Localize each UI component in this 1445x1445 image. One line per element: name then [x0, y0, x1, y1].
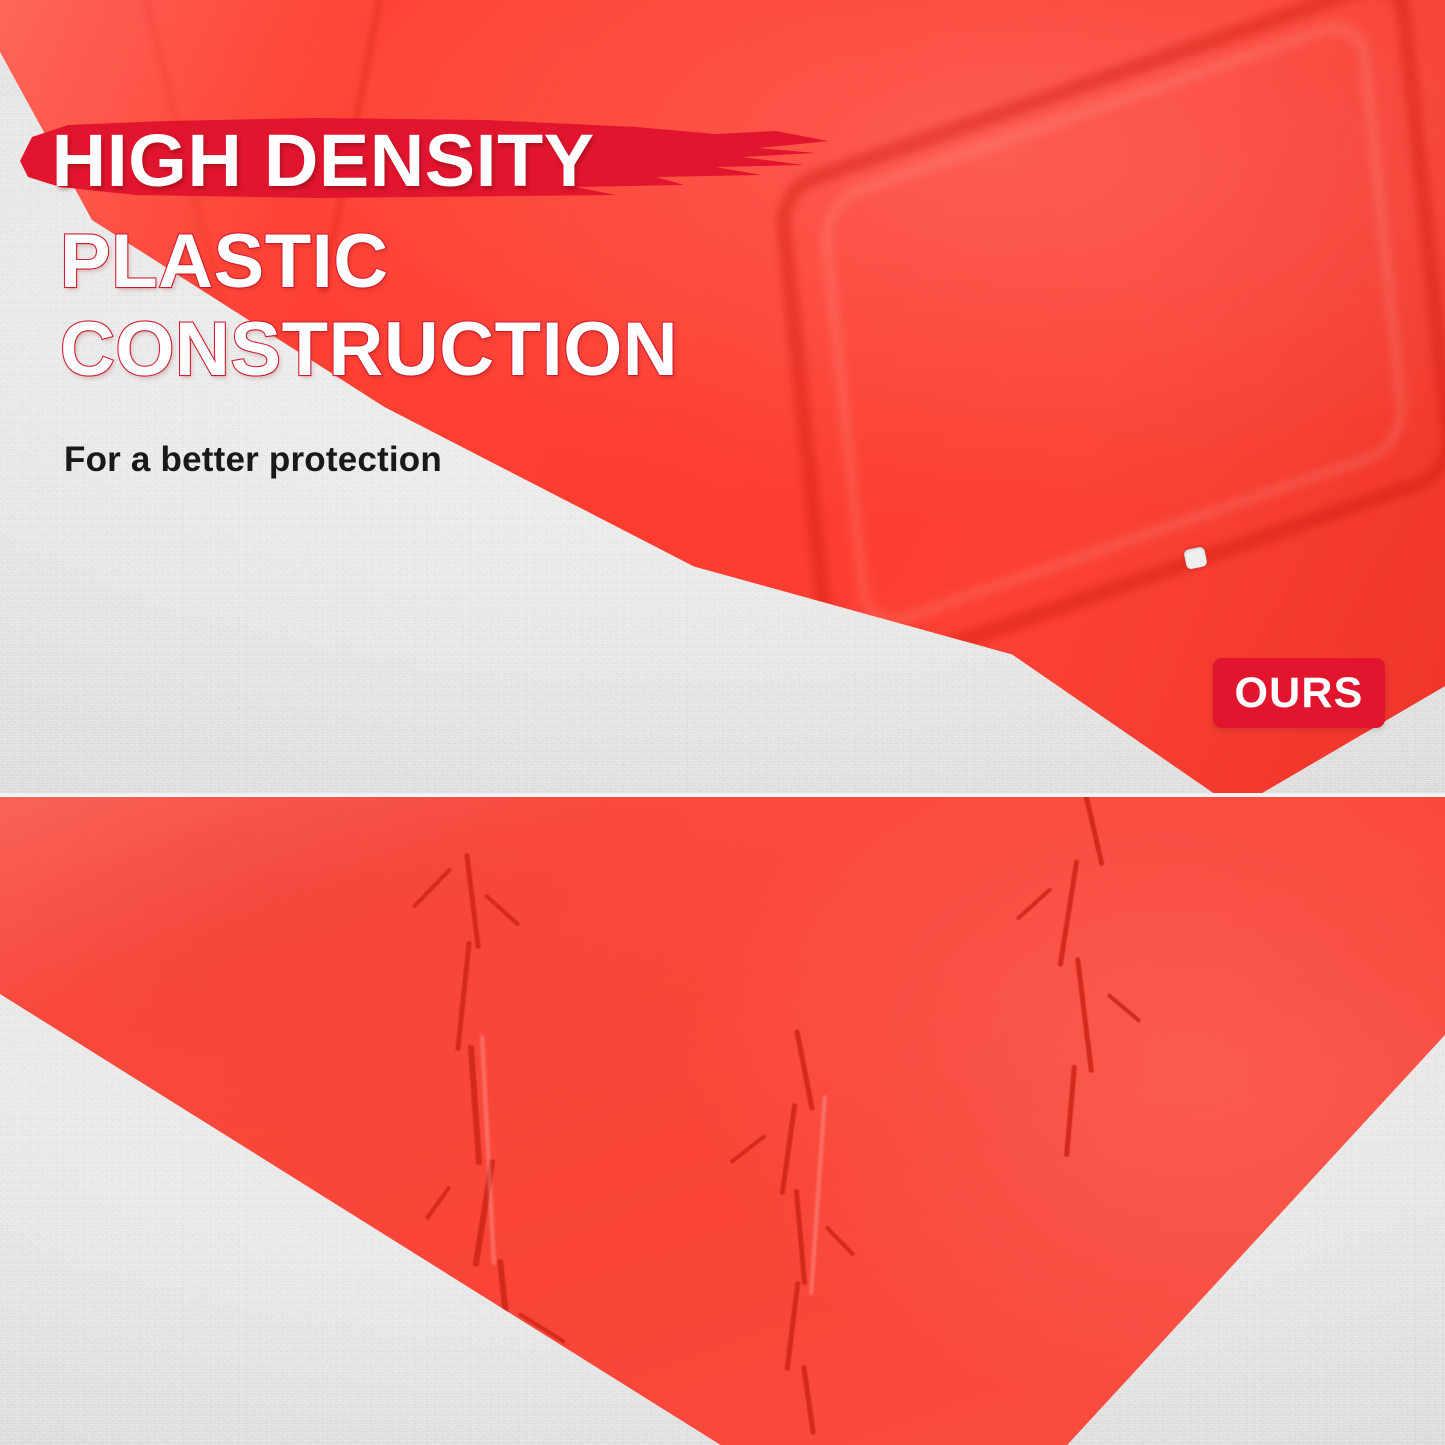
headline-line-3: CONSTRUCTION — [60, 310, 678, 389]
panel-others: OTHERS — [0, 797, 1445, 1445]
product-comparison-banner: HIGH DENSITY PLASTIC CONSTRUCTION For a … — [0, 0, 1445, 1445]
badge-ours: OURS — [1213, 658, 1385, 728]
headline-block: HIGH DENSITY PLASTIC CONSTRUCTION — [57, 124, 589, 198]
headline-line-1: HIGH DENSITY — [52, 124, 595, 198]
headline-subtitle: For a better protection — [64, 440, 442, 480]
panel-divider — [0, 793, 1445, 797]
panel-ours: HIGH DENSITY PLASTIC CONSTRUCTION For a … — [0, 0, 1445, 793]
headline-line-2: PLASTIC — [60, 222, 389, 301]
